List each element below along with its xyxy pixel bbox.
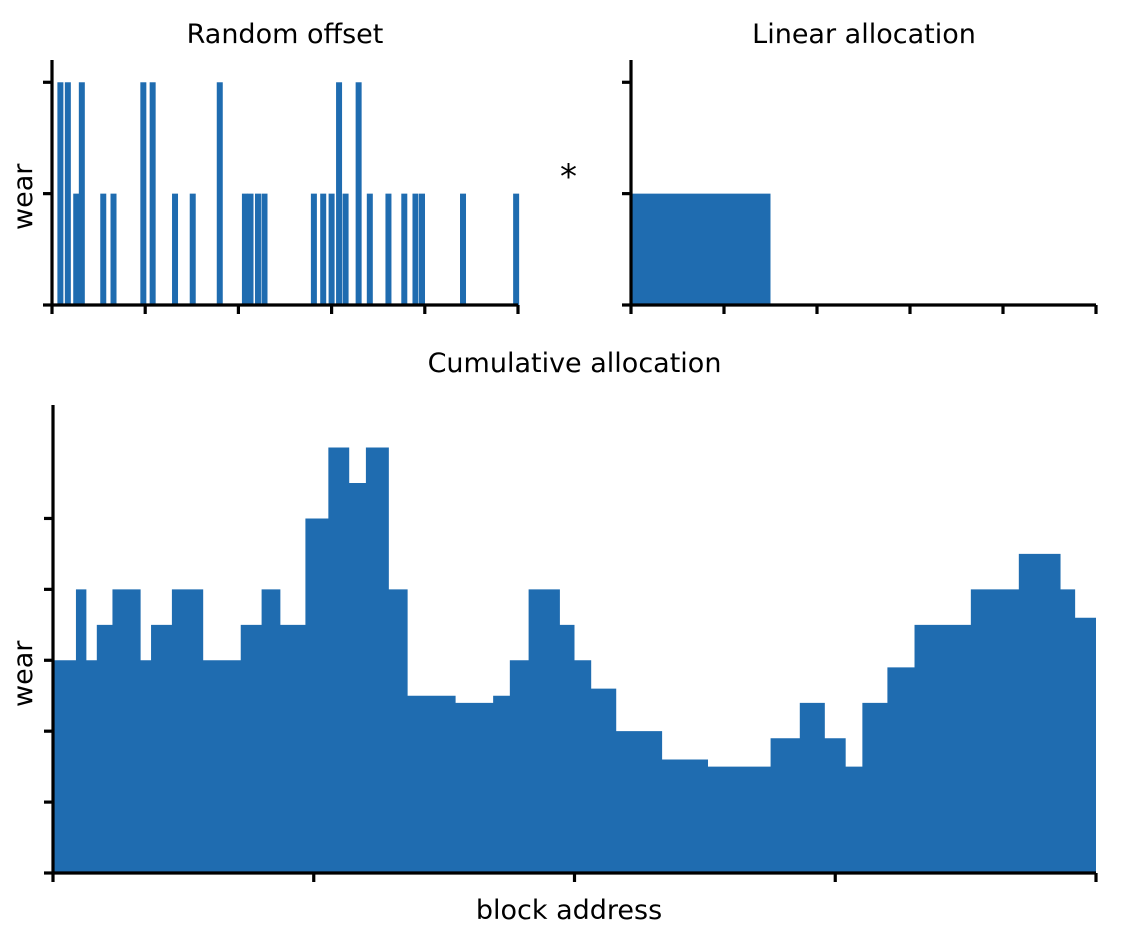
bar-12 [248, 194, 254, 305]
bar-9 [190, 194, 196, 305]
random-offset-bars [57, 82, 519, 305]
bar-11 [242, 194, 248, 305]
bar-3 [79, 82, 85, 305]
bar-24 [412, 194, 418, 305]
bar-1 [65, 82, 71, 305]
bar-0 [57, 82, 63, 305]
bar-8 [172, 194, 178, 305]
bar-4 [100, 194, 106, 305]
panel-linear-allocation: Linear allocation [598, 0, 1138, 335]
bar-5 [111, 194, 117, 305]
bar-26 [460, 194, 466, 305]
bar-2 [73, 194, 79, 305]
bar-18 [336, 82, 342, 305]
bar-6 [140, 82, 146, 305]
linear-allocation-bars [631, 194, 771, 305]
bar-27 [513, 194, 519, 305]
panel-linear-allocation-title: Linear allocation [631, 18, 1097, 52]
panel-cumulative-allocation-ylabel: wear [8, 641, 39, 707]
bar-25 [419, 194, 425, 305]
panel-cumulative-allocation-xlabel: block address [0, 895, 1138, 926]
panel-random-offset-title: Random offset [52, 18, 518, 52]
bar-15 [311, 194, 317, 305]
bar-0 [631, 194, 771, 305]
bar-10 [217, 82, 223, 305]
figure-canvas: Random offset wear * Linear allocation C… [0, 0, 1138, 942]
bar-21 [367, 194, 373, 305]
panel-random-offset-ylabel: wear [8, 164, 39, 230]
bar-22 [385, 194, 391, 305]
panel-cumulative-allocation-title: Cumulative allocation [53, 347, 1096, 381]
bar-7 [150, 82, 156, 305]
bar-17 [329, 194, 335, 305]
bar-13 [255, 194, 261, 305]
chart-cumulative-allocation [0, 335, 1138, 942]
bar-14 [261, 194, 267, 305]
bar-20 [356, 82, 362, 305]
bar-16 [320, 194, 326, 305]
bar-23 [401, 194, 407, 305]
panel-cumulative-allocation: Cumulative allocation wear block address [0, 335, 1138, 942]
panel-random-offset: Random offset wear [0, 0, 540, 335]
multiply-operator-symbol: * [560, 160, 577, 194]
bar-19 [343, 194, 349, 305]
cumulative-allocation-area [53, 448, 1096, 873]
